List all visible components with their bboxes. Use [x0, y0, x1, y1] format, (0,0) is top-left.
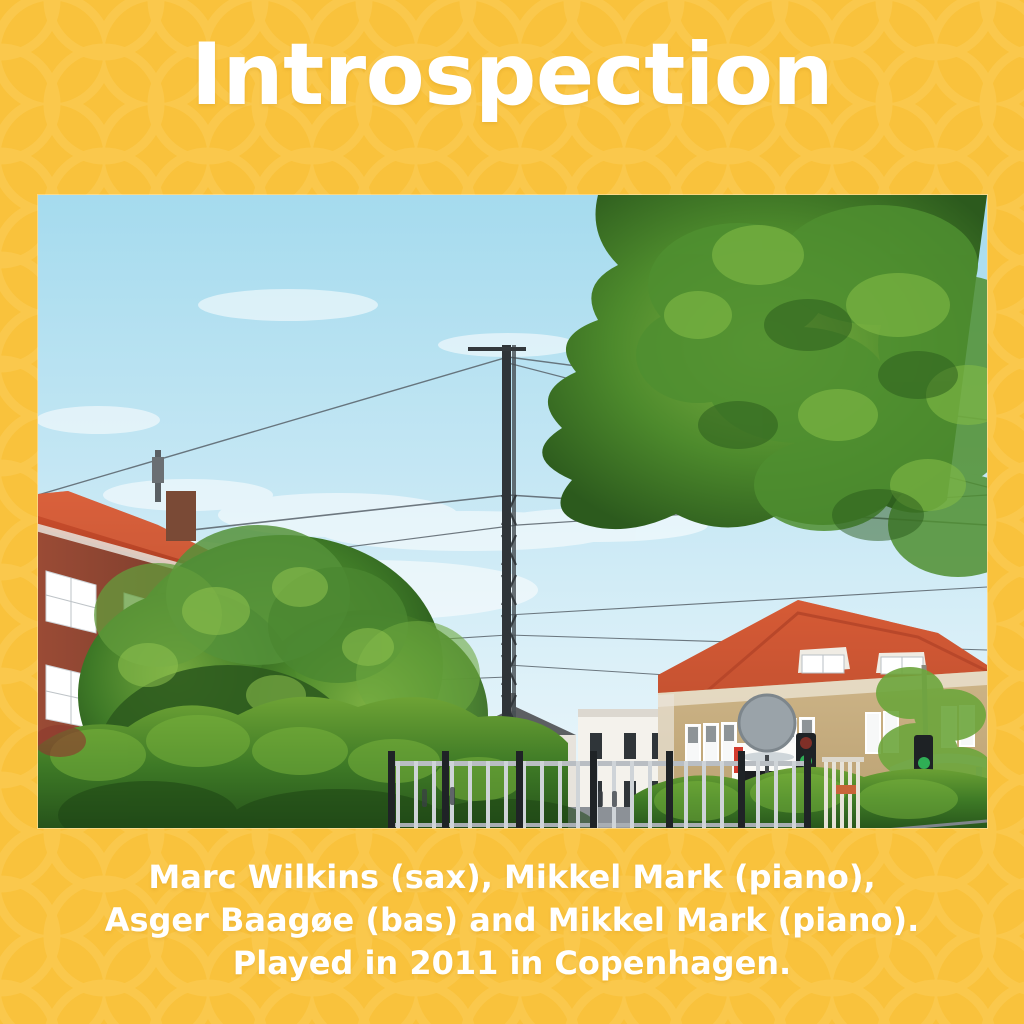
- caption-line-3: Played in 2011 in Copenhagen.: [0, 942, 1024, 985]
- caption-line-1: Marc Wilkins (sax), Mikkel Mark (piano),: [0, 856, 1024, 899]
- poster-title: Introspection: [0, 32, 1024, 118]
- photo-frame: [38, 195, 987, 828]
- poster-canvas: Introspection: [0, 0, 1024, 1024]
- street-photo: [38, 195, 987, 828]
- photo-caption: Marc Wilkins (sax), Mikkel Mark (piano),…: [0, 856, 1024, 985]
- caption-line-2: Asger Baagøe (bas) and Mikkel Mark (pian…: [0, 899, 1024, 942]
- right-tree-canopy: [542, 195, 987, 577]
